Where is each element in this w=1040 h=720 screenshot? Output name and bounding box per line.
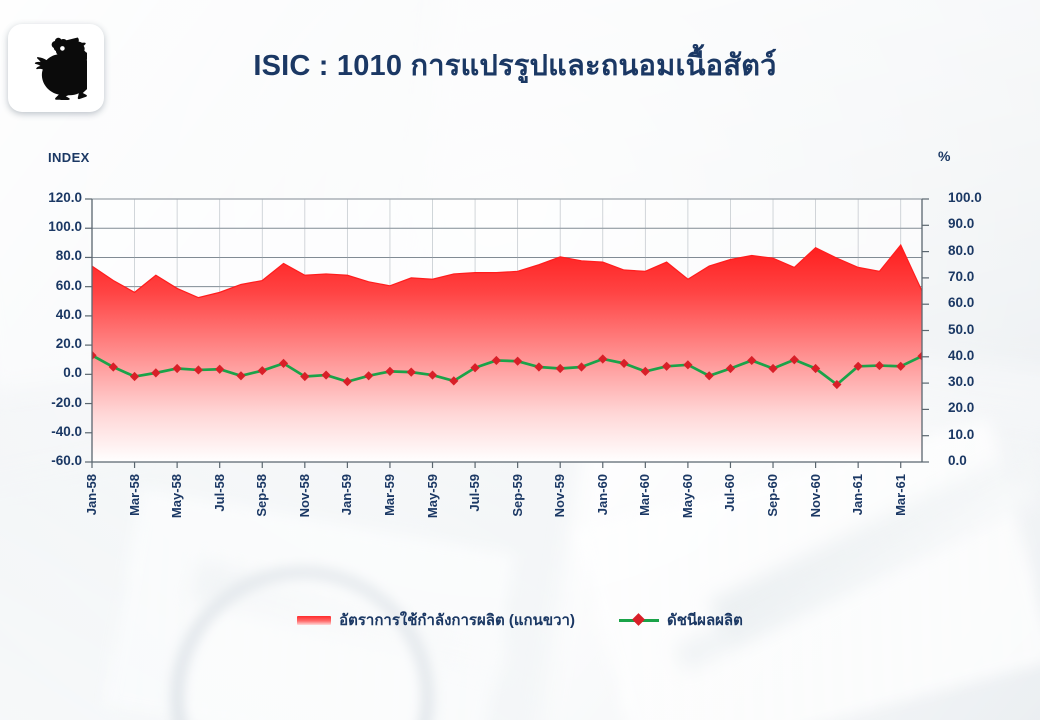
x-axis-tick-label: May-60 — [680, 474, 695, 518]
left-axis-caption: INDEX — [48, 150, 90, 165]
right-axis-tick-label: 30.0 — [948, 374, 1018, 389]
line-marker-swatch-icon — [619, 614, 659, 626]
x-axis-tick-label: Mar-58 — [127, 474, 142, 516]
right-axis-tick-label: 100.0 — [948, 190, 1018, 205]
right-axis-tick-label: 50.0 — [948, 322, 1018, 337]
right-axis-tick-label: 70.0 — [948, 269, 1018, 284]
right-axis-tick-label: 40.0 — [948, 348, 1018, 363]
x-axis-tick-label: Sep-58 — [254, 474, 269, 517]
x-axis-tick-label: Jan-61 — [850, 474, 865, 515]
x-axis-tick-label: Mar-61 — [893, 474, 908, 516]
left-axis-tick-label: 40.0 — [16, 307, 82, 322]
x-axis-tick-label: Jan-58 — [84, 474, 99, 515]
x-axis-tick-label: Mar-59 — [382, 474, 397, 516]
left-axis-ticks — [85, 199, 92, 462]
x-axis-tick-label: May-58 — [169, 474, 184, 518]
left-axis-tick-label: 120.0 — [16, 190, 82, 205]
right-axis-tick-label: 80.0 — [948, 243, 1018, 258]
area-swatch-icon — [297, 616, 331, 625]
right-axis-tick-label: 10.0 — [948, 427, 1018, 442]
x-axis-tick-label: Nov-60 — [808, 474, 823, 517]
logo-card — [8, 24, 104, 112]
left-axis-tick-label: -20.0 — [16, 395, 82, 410]
x-axis-tick-label: Jan-60 — [595, 474, 610, 515]
left-axis-tick-label: -60.0 — [16, 453, 82, 468]
left-axis-tick-label: 80.0 — [16, 248, 82, 263]
x-axis-tick-label: Jul-60 — [722, 474, 737, 512]
right-axis-tick-label: 20.0 — [948, 400, 1018, 415]
legend-item-capacity[interactable]: อัตราการใช้กำลังการผลิต (แกนขวา) — [297, 608, 575, 632]
x-axis-tick-label: Sep-60 — [765, 474, 780, 517]
chicken-icon — [25, 36, 87, 100]
left-axis-tick-label: 100.0 — [16, 219, 82, 234]
legend-label-capacity: อัตราการใช้กำลังการผลิต (แกนขวา) — [339, 608, 575, 632]
x-axis-tick-label: Jul-59 — [467, 474, 482, 512]
left-axis-tick-label: 60.0 — [16, 278, 82, 293]
right-axis-ticks — [922, 199, 929, 462]
x-axis-tick-label: Mar-60 — [637, 474, 652, 516]
right-axis-tick-label: 0.0 — [948, 453, 1018, 468]
page-title: ISIC : 1010 การแปรรูปและถนอมเนื้อสัตว์ — [120, 50, 910, 83]
x-axis-tick-label: Jan-59 — [339, 474, 354, 515]
right-axis-tick-label: 60.0 — [948, 295, 1018, 310]
right-axis-caption: % — [938, 148, 950, 164]
x-axis-tick-label: Nov-58 — [297, 474, 312, 517]
x-axis-tick-label: Sep-59 — [510, 474, 525, 517]
left-axis-tick-label: -40.0 — [16, 424, 82, 439]
legend-item-production-index[interactable]: ดัชนีผลผลิต — [619, 608, 743, 632]
left-axis-tick-label: 0.0 — [16, 365, 82, 380]
x-axis-tick-label: Jul-58 — [212, 474, 227, 512]
left-axis-tick-label: 20.0 — [16, 336, 82, 351]
right-axis-tick-label: 90.0 — [948, 216, 1018, 231]
x-axis-tick-label: May-59 — [425, 474, 440, 518]
chart-legend: อัตราการใช้กำลังการผลิต (แกนขวา) ดัชนีผล… — [0, 608, 1040, 632]
x-axis-tick-label: Nov-59 — [552, 474, 567, 517]
legend-label-production-index: ดัชนีผลผลิต — [667, 608, 743, 632]
